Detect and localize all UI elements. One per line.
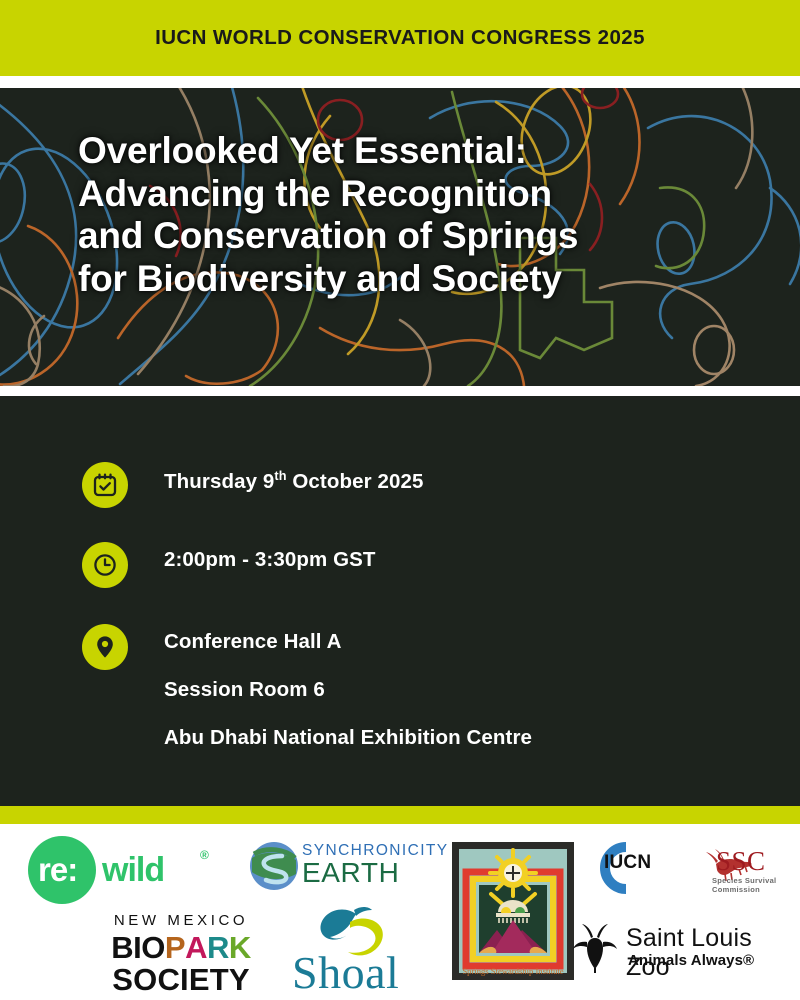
- shoal-wordmark: Shoal: [292, 946, 399, 999]
- bottom-accent-bar: [0, 806, 800, 824]
- date-post: October 2025: [287, 470, 424, 493]
- earth-text: EARTH: [302, 857, 449, 889]
- logo-shoal: Shoal: [288, 910, 424, 996]
- nm-society-text: SOCIETY: [98, 962, 264, 998]
- nm-bio-text: BIO: [111, 930, 165, 966]
- location-pin-icon: [82, 624, 128, 670]
- event-details-section: Thursday 9th October 2025 2:00pm - 3:30p…: [0, 396, 800, 806]
- synchronicity-earth-wordmark: SYNCHRONICITY EARTH: [302, 842, 449, 889]
- venue-room: Session Room 6: [164, 678, 532, 702]
- rewild-mark-text: re:: [38, 851, 77, 889]
- kudu-head-icon: [570, 922, 620, 974]
- nm-park-letter-k: K: [229, 930, 251, 966]
- congress-header-bar: IUCN WORLD CONSERVATION CONGRESS 2025: [0, 0, 800, 76]
- iucn-text: IUCN: [604, 852, 651, 874]
- partner-logos-section: re: wild ® SYNCHRONICITY EARTH: [0, 824, 800, 1000]
- title-line-2: Advancing the Recognition: [78, 173, 760, 216]
- ssc-subtitle: Species Survival Commission: [712, 876, 788, 894]
- title-line-4: for Biodiversity and Society: [78, 258, 760, 301]
- venue-hall: Conference Hall A: [164, 630, 532, 654]
- springs-stewardship-artwork-icon: Springs Stewardship Institute: [452, 842, 574, 980]
- stlz-tagline-text: Animals Always®: [628, 952, 754, 969]
- logo-synchronicity-earth: SYNCHRONICITY EARTH: [248, 840, 444, 900]
- rewild-registered-mark: ®: [200, 848, 209, 862]
- date-ordinal: th: [274, 468, 286, 483]
- ssc-text: SSC: [716, 846, 766, 877]
- title-line-1: Overlooked Yet Essential:: [78, 130, 760, 173]
- date-line: Thursday 9th October 2025: [164, 468, 423, 494]
- nm-biopark-row: BIOPARK: [98, 930, 264, 966]
- date-text: Thursday 9th October 2025: [164, 462, 423, 494]
- session-title: Overlooked Yet Essential: Advancing the …: [78, 130, 760, 301]
- rewild-word: wild: [102, 851, 164, 890]
- svg-text:Springs Stewardship Institute: Springs Stewardship Institute: [462, 966, 563, 976]
- logo-nm-biopark-society: NEW MEXICO BIOPARK SOCIETY: [98, 912, 264, 992]
- venue-site: Abu Dhabi National Exhibition Centre: [164, 726, 532, 750]
- logo-rewild: re: wild ®: [28, 836, 228, 904]
- detail-row-venue: Conference Hall A Session Room 6 Abu Dha…: [82, 624, 532, 750]
- detail-row-time: 2:00pm - 3:30pm GST: [82, 542, 376, 588]
- clock-icon: [82, 542, 128, 588]
- time-text: 2:00pm - 3:30pm GST: [164, 542, 376, 572]
- nm-park-letter-p: P: [165, 930, 185, 966]
- event-poster: IUCN WORLD CONSERVATION CONGRESS 2025: [0, 0, 800, 1000]
- nm-park-letter-r: R: [207, 930, 229, 966]
- logo-saint-louis-zoo: Saint Louis Zoo Animals Always®: [570, 922, 792, 980]
- congress-title: IUCN WORLD CONSERVATION CONGRESS 2025: [155, 26, 645, 50]
- title-banner: Overlooked Yet Essential: Advancing the …: [0, 88, 800, 386]
- logo-springs-stewardship-institute: Springs Stewardship Institute: [452, 842, 574, 980]
- time-line: 2:00pm - 3:30pm GST: [164, 548, 376, 572]
- nm-park-letter-a: A: [185, 930, 207, 966]
- calendar-check-icon: [82, 462, 128, 508]
- logo-iucn-ssc: IUCN SSC Species Survival Commission: [588, 842, 788, 894]
- detail-row-date: Thursday 9th October 2025: [82, 462, 423, 508]
- title-line-3: and Conservation of Springs: [78, 215, 760, 258]
- date-pre: Thursday 9: [164, 470, 274, 493]
- nm-new-mexico-text: NEW MEXICO: [98, 912, 264, 929]
- venue-text: Conference Hall A Session Room 6 Abu Dha…: [164, 624, 532, 750]
- globe-icon: [248, 840, 300, 892]
